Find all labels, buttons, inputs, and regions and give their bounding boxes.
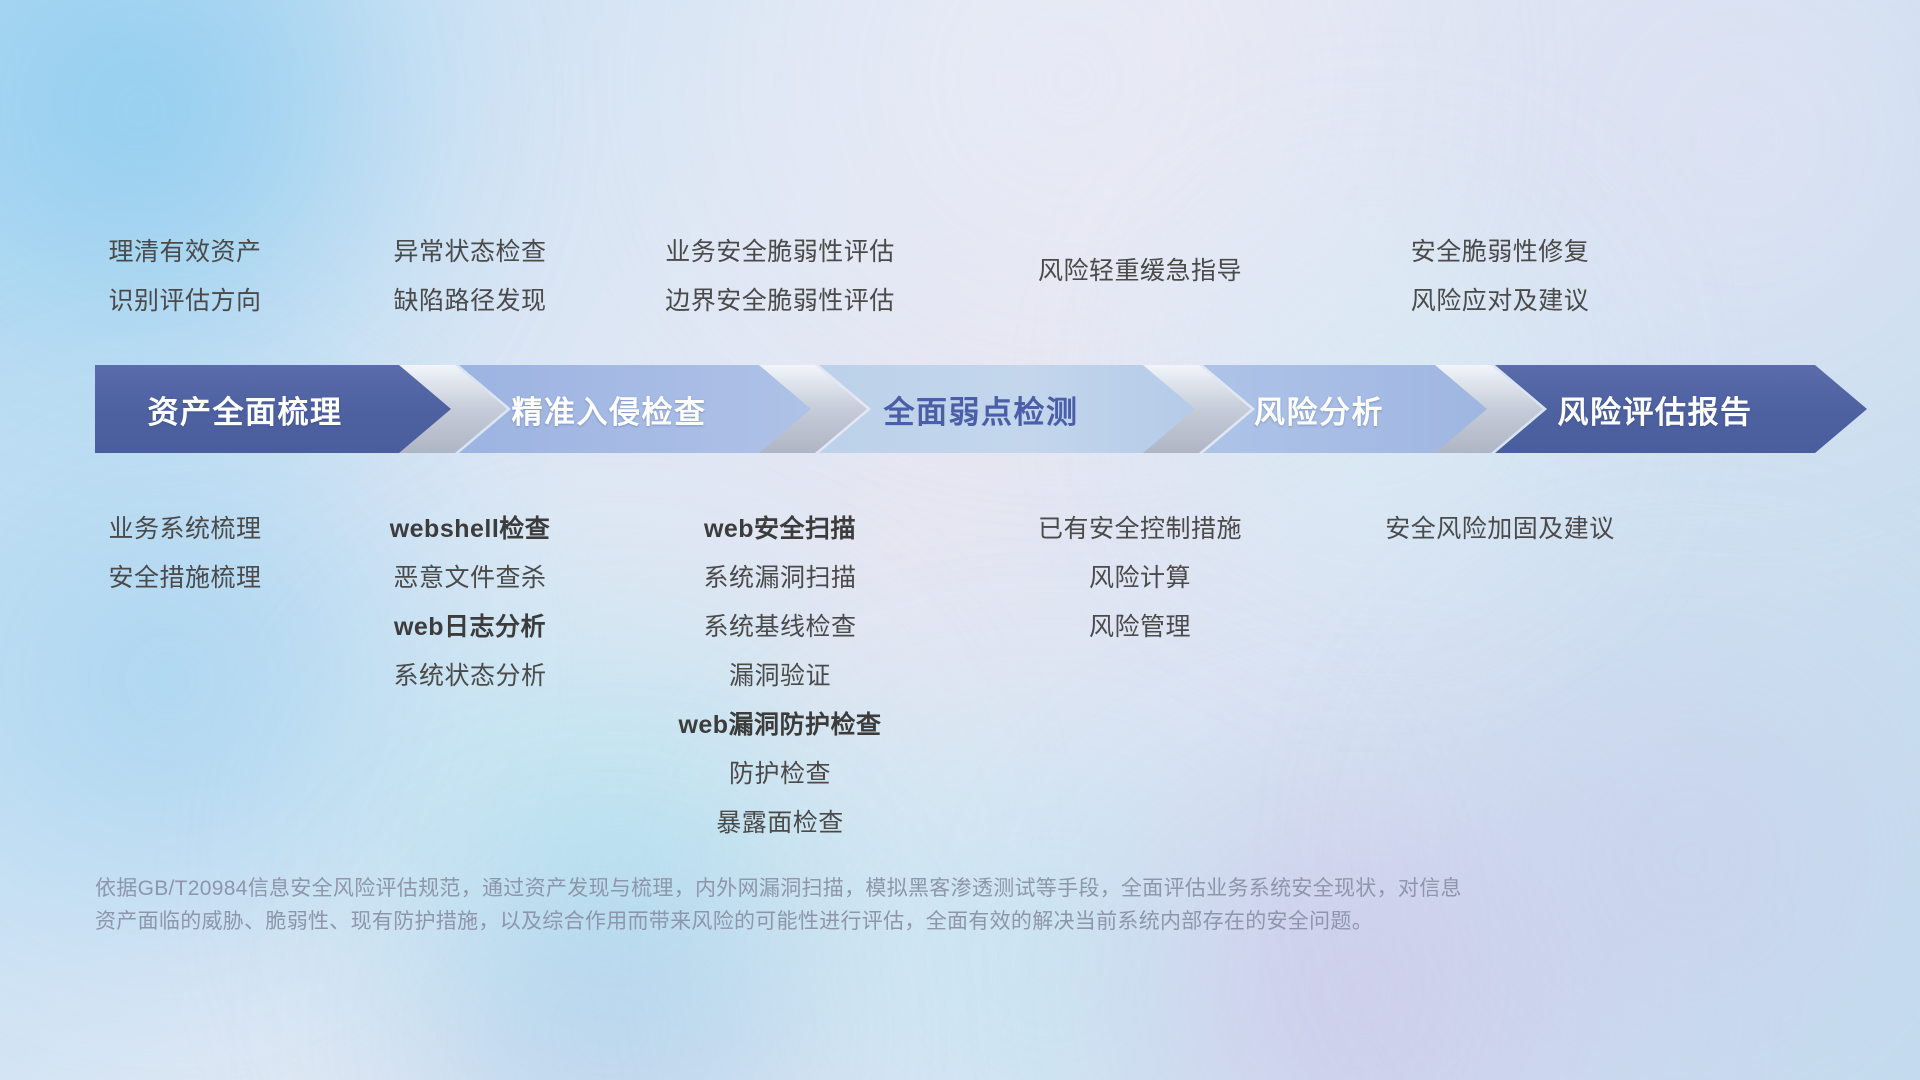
output-label: 漏洞验证: [610, 652, 950, 701]
input-label: 业务安全脆弱性评估: [610, 228, 950, 277]
input-label: 边界安全脆弱性评估: [610, 277, 950, 326]
output-label: 风险管理: [980, 603, 1300, 652]
output-label: web日志分析: [320, 603, 620, 652]
output-label: web安全扫描: [610, 505, 950, 554]
input-label: 理清有效资产: [35, 228, 335, 277]
output-label: 风险计算: [980, 554, 1300, 603]
output-label: 安全措施梳理: [35, 554, 335, 603]
stage-2-inputs: 异常状态检查 缺陷路径发现: [320, 228, 620, 326]
stage-outputs-row: 业务系统梳理 安全措施梳理 webshell检查 恶意文件查杀 web日志分析 …: [0, 505, 1920, 848]
footer-note: 依据GB/T20984信息安全风险评估规范，通过资产发现与梳理，内外网漏洞扫描，…: [95, 872, 1515, 938]
input-label: 缺陷路径发现: [320, 277, 620, 326]
output-label: web漏洞防护检查: [610, 701, 950, 750]
stage-5-title[interactable]: 风险评估报告: [1495, 365, 1815, 453]
input-label: 识别评估方向: [35, 277, 335, 326]
stage-4-inputs: 风险轻重缓急指导: [980, 228, 1300, 326]
output-label: 防护检查: [610, 750, 950, 799]
input-label: 安全脆弱性修复: [1335, 228, 1665, 277]
output-label: 系统漏洞扫描: [610, 554, 950, 603]
input-label: 风险应对及建议: [1335, 277, 1665, 326]
output-label: 安全风险加固及建议: [1335, 505, 1665, 554]
input-label: 风险轻重缓急指导: [980, 247, 1300, 296]
output-label: 系统基线检查: [610, 603, 950, 652]
footer-line-1: 依据GB/T20984信息安全风险评估规范，通过资产发现与梳理，内外网漏洞扫描，…: [95, 872, 1515, 905]
stage-3-outputs: web安全扫描 系统漏洞扫描 系统基线检查 漏洞验证 web漏洞防护检查 防护检…: [610, 505, 950, 848]
output-label: webshell检查: [320, 505, 620, 554]
output-label: 暴露面检查: [610, 799, 950, 848]
output-label: 已有安全控制措施: [980, 505, 1300, 554]
stage-1-inputs: 理清有效资产 识别评估方向: [35, 228, 335, 326]
output-label: 业务系统梳理: [35, 505, 335, 554]
input-label: 异常状态检查: [320, 228, 620, 277]
stage-inputs-row: 理清有效资产 识别评估方向 异常状态检查 缺陷路径发现 业务安全脆弱性评估 边界…: [0, 228, 1920, 326]
stage-5-inputs: 安全脆弱性修复 风险应对及建议: [1335, 228, 1665, 326]
stage-2-outputs: webshell检查 恶意文件查杀 web日志分析 系统状态分析: [320, 505, 620, 701]
footer-line-2: 资产面临的威胁、脆弱性、现有防护措施，以及综合作用而带来风险的可能性进行评估，全…: [95, 905, 1515, 938]
stage-4-title[interactable]: 风险分析: [1203, 365, 1435, 453]
slide-canvas: 理清有效资产 识别评估方向 异常状态检查 缺陷路径发现 业务安全脆弱性评估 边界…: [0, 0, 1920, 1080]
stage-3-title[interactable]: 全面弱点检测: [819, 365, 1143, 453]
output-label: 系统状态分析: [320, 652, 620, 701]
output-label: 恶意文件查杀: [320, 554, 620, 603]
stage-2-title[interactable]: 精准入侵检查: [459, 365, 759, 453]
stage-5-outputs: 安全风险加固及建议: [1335, 505, 1665, 554]
stage-1-outputs: 业务系统梳理 安全措施梳理: [35, 505, 335, 603]
stage-1-title[interactable]: 资产全面梳理: [95, 365, 395, 453]
stage-3-inputs: 业务安全脆弱性评估 边界安全脆弱性评估: [610, 228, 950, 326]
stage-4-outputs: 已有安全控制措施 风险计算 风险管理: [980, 505, 1300, 652]
